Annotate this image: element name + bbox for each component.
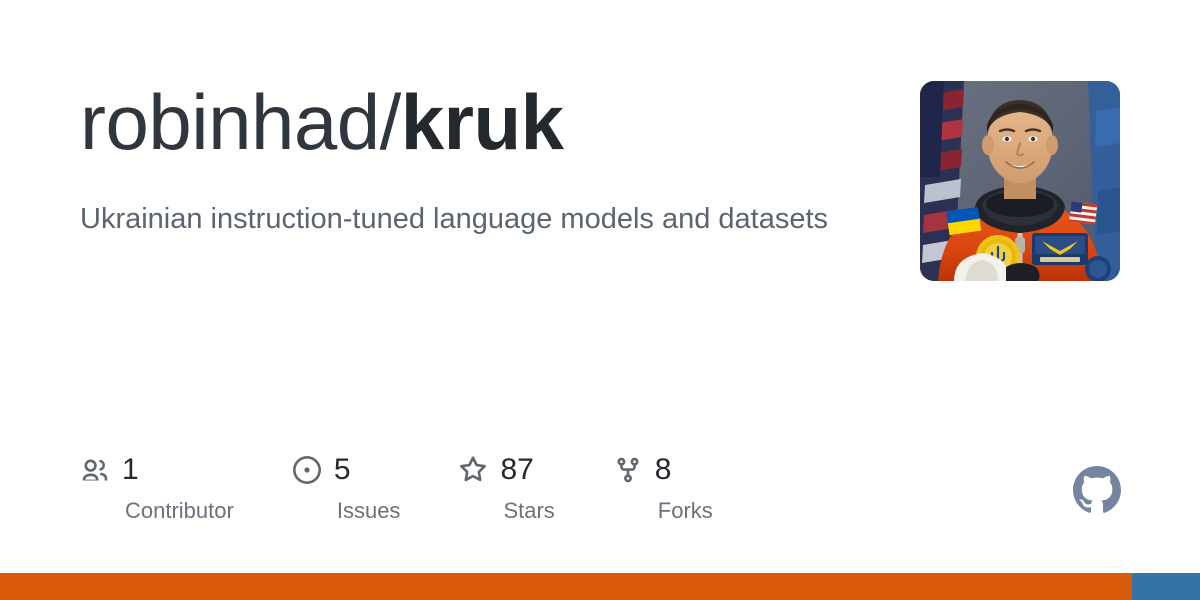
stat-contributors-label: Contributor bbox=[125, 500, 234, 522]
stat-issues-value: 5 bbox=[334, 455, 351, 485]
language-segment-python bbox=[1132, 573, 1200, 600]
stat-contributors-value: 1 bbox=[122, 455, 139, 485]
avatar-image bbox=[920, 81, 1120, 281]
language-bar bbox=[0, 573, 1200, 600]
repository-social-preview-card: robinhad/kruk Ukrainian instruction-tune… bbox=[0, 0, 1200, 600]
repository-separator: / bbox=[380, 78, 401, 166]
stat-stars-value: 87 bbox=[500, 455, 533, 485]
stat-forks-value: 8 bbox=[655, 455, 672, 485]
stat-stars-label: Stars bbox=[503, 500, 554, 522]
stat-contributors-top: 1 bbox=[80, 452, 234, 488]
people-icon bbox=[80, 455, 110, 485]
repository-owner: robinhad bbox=[80, 78, 380, 166]
stat-contributors[interactable]: 1 Contributor bbox=[80, 452, 234, 522]
stat-forks-top: 8 bbox=[613, 452, 713, 488]
repository-description: Ukrainian instruction-tuned language mod… bbox=[80, 196, 840, 244]
stat-stars[interactable]: 87 Stars bbox=[458, 452, 554, 522]
language-segment-jupyter-notebook bbox=[0, 573, 1132, 600]
star-icon bbox=[458, 455, 488, 485]
page-title: robinhad/kruk bbox=[80, 81, 900, 164]
stat-forks[interactable]: 8 Forks bbox=[613, 452, 713, 522]
issue-opened-icon bbox=[292, 455, 322, 485]
repository-name: kruk bbox=[401, 78, 564, 166]
avatar bbox=[920, 81, 1120, 281]
repository-stats: 1 Contributor 5 Issues bbox=[80, 452, 771, 522]
stat-stars-top: 87 bbox=[458, 452, 554, 488]
repo-forked-icon bbox=[613, 455, 643, 485]
stat-issues-label: Issues bbox=[337, 500, 401, 522]
stat-forks-label: Forks bbox=[658, 500, 713, 522]
stat-issues-top: 5 bbox=[292, 452, 401, 488]
stat-issues[interactable]: 5 Issues bbox=[292, 452, 401, 522]
github-mark-icon bbox=[1073, 466, 1121, 514]
repository-header: robinhad/kruk Ukrainian instruction-tune… bbox=[80, 81, 900, 244]
